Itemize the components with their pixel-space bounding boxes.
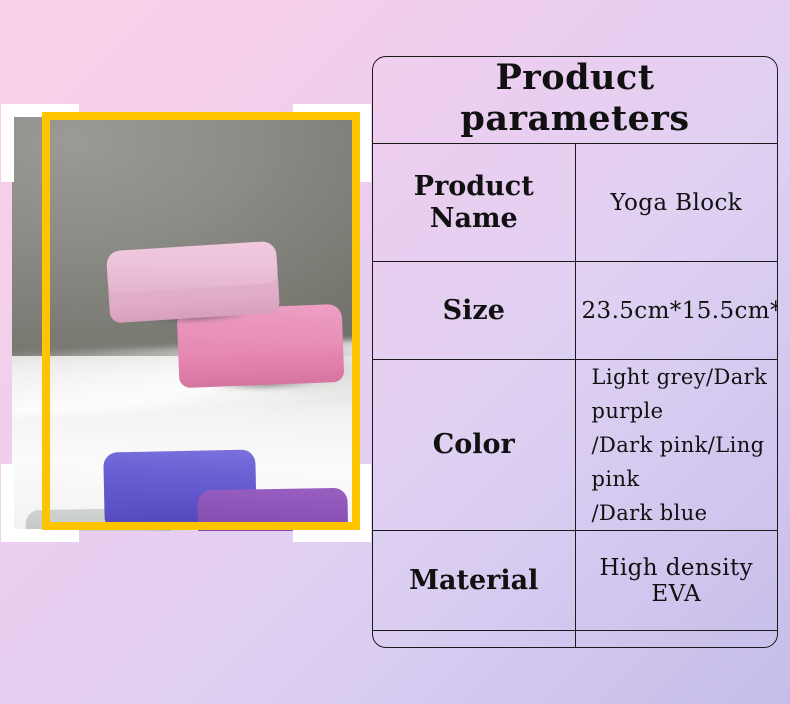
page-title: Product parameters — [373, 57, 777, 144]
row-label-weight: Weight — [373, 631, 575, 648]
dark-purple-block — [197, 488, 348, 531]
table-row: Product Name Yoga Block — [373, 144, 777, 262]
table-row: Color Light grey/Dark purple /Dark pink/… — [373, 360, 777, 531]
color-line: /Dark blue — [592, 496, 772, 530]
row-value-product-name: Yoga Block — [575, 144, 777, 262]
block-top-face — [197, 488, 348, 531]
table-row: Material High density EVA — [373, 531, 777, 631]
row-label-color: Color — [373, 360, 575, 531]
row-value-material: High density EVA — [575, 531, 777, 631]
row-label-product-name: Product Name — [373, 144, 575, 262]
row-value-weight: Around 200g — [575, 631, 777, 648]
product-parameters-page: Product parameters Product Name Yoga Blo… — [0, 0, 790, 704]
row-value-color: Light grey/Dark purple /Dark pink/Ling p… — [575, 360, 777, 531]
product-parameters-table: Product parameters Product Name Yoga Blo… — [372, 56, 778, 648]
table-row: Size 23.5cm*15.5cm*7.5cm — [373, 262, 777, 360]
row-label-material: Material — [373, 531, 575, 631]
color-line: Light grey/Dark purple — [592, 360, 772, 428]
yoga-blocks-photo — [12, 115, 360, 531]
table-row: Weight Around 200g — [373, 631, 777, 648]
light-pink-block — [106, 241, 280, 324]
color-line: /Dark pink/Ling pink — [592, 428, 772, 496]
product-photo-panel — [12, 115, 360, 531]
row-value-size: 23.5cm*15.5cm*7.5cm — [575, 262, 777, 360]
table-title-row: Product parameters — [373, 57, 777, 144]
row-label-size: Size — [373, 262, 575, 360]
